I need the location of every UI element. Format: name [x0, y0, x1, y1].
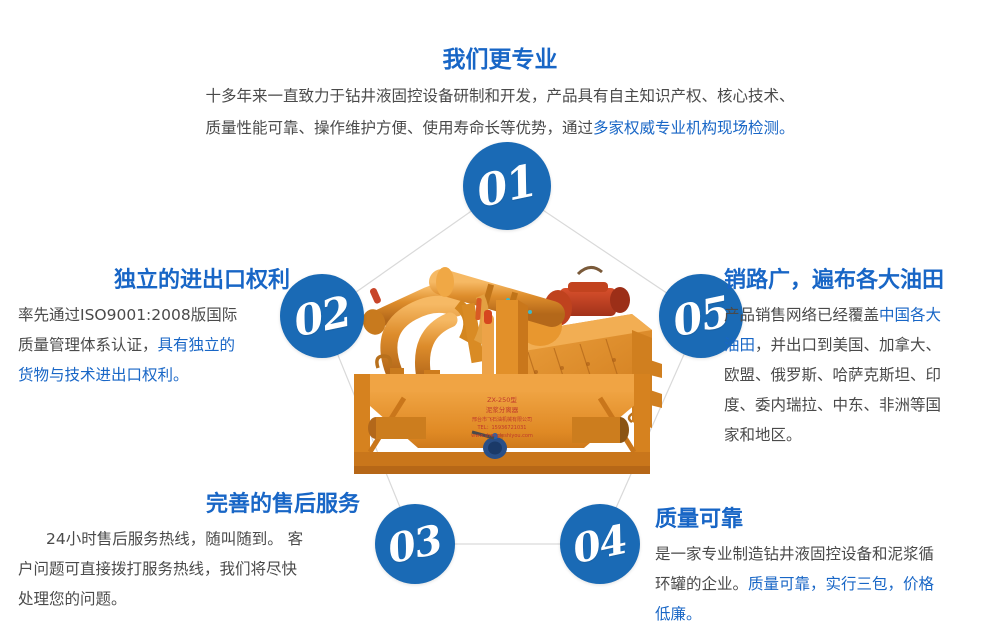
feature-02-line-2: 质量管理体系认证，具有独立的	[18, 330, 290, 360]
badge-02[interactable]: 02	[280, 274, 364, 358]
feature-02-line-1: 率先通过ISO9001:2008版国际	[18, 300, 290, 330]
badge-03[interactable]: 03	[375, 504, 455, 584]
badge-03-label: 03	[384, 515, 446, 572]
feature-05-line-3: 欧盟、俄罗斯、哈萨克斯坦、印	[724, 360, 986, 390]
badge-01[interactable]: 01	[463, 142, 551, 230]
feature-04-line-2-highlight: 质量可靠，实行三包，价格	[748, 575, 934, 593]
feature-05-line-2: 油田，并出口到美国、加拿大、	[724, 330, 986, 360]
feature-01-line-2: 质量性能可靠、操作维护方便、使用寿命长等优势，通过多家权威专业机构现场检测。	[150, 112, 850, 144]
feature-02-line-2-highlight: 具有独立的	[158, 336, 236, 354]
feature-01-line-1: 十多年来一直致力于钻井液固控设备研制和开发，产品具有自主知识产权、核心技术、	[150, 80, 850, 112]
feature-05-title: 销路广，遍布各大油田	[724, 266, 986, 296]
badge-01-label: 01	[473, 155, 542, 217]
feature-01-line-2-highlight: 多家权威专业机构现场检测。	[593, 119, 795, 137]
feature-04-line-1: 是一家专业制造钻井液固控设备和泥浆循	[655, 539, 991, 569]
badge-04[interactable]: 04	[560, 504, 640, 584]
feature-block-02: 独立的进出口权利 率先通过ISO9001:2008版国际 质量管理体系认证，具有…	[18, 266, 290, 390]
feature-01-line-2-plain: 质量性能可靠、操作维护方便、使用寿命长等优势，通过	[205, 119, 593, 137]
feature-04-line-3: 低廉。	[655, 599, 991, 629]
feature-05-line-2-highlight: 油田	[724, 336, 755, 354]
product-photo: ZX-250型 泥浆分离器 邢台市飞石油机械有限公司 TEL：159367210…	[332, 252, 668, 484]
svg-text:泥浆分离器: 泥浆分离器	[486, 405, 519, 414]
feature-04-title: 质量可靠	[655, 505, 991, 535]
feature-02-line-3: 货物与技术进出口权利。	[18, 360, 290, 390]
feature-02-title: 独立的进出口权利	[18, 266, 290, 296]
feature-03-line-1: 24小时售后服务热线，随叫随到。 客	[18, 524, 360, 554]
feature-05-line-2-plain: ，并出口到美国、加拿大、	[755, 336, 941, 354]
svg-text:www.shengleshiyou.com: www.shengleshiyou.com	[471, 433, 533, 439]
feature-05-line-1-plain: 产品销售网络已经覆盖	[724, 306, 879, 324]
feature-block-03: 完善的售后服务 24小时售后服务热线，随叫随到。 客 户问题可直接拨打服务热线，…	[18, 490, 360, 614]
feature-04-line-2-plain: 环罐的企业。	[655, 575, 748, 593]
feature-02-line-2-plain: 质量管理体系认证，	[18, 336, 158, 354]
badge-04-label: 04	[569, 515, 631, 572]
feature-05-line-4: 度、委内瑞拉、中东、非洲等国	[724, 390, 986, 420]
feature-05-line-5: 家和地区。	[724, 420, 986, 450]
badge-02-label: 02	[289, 286, 354, 346]
feature-05-line-1-highlight: 中国各大	[879, 306, 941, 324]
feed-chute	[482, 300, 528, 384]
feature-03-title: 完善的售后服务	[18, 490, 360, 520]
feature-03-line-3: 处理您的问题。	[18, 584, 360, 614]
svg-text:ZX-250型: ZX-250型	[487, 395, 517, 404]
feature-05-line-1: 产品销售网络已经覆盖中国各大	[724, 300, 986, 330]
feature-04-line-2: 环罐的企业。质量可靠，实行三包，价格	[655, 569, 991, 599]
feature-block-01: 我们更专业 十多年来一直致力于钻井液固控设备研制和开发，产品具有自主知识产权、核…	[150, 44, 850, 144]
svg-text:邢台市飞石油机械有限公司: 邢台市飞石油机械有限公司	[472, 416, 532, 423]
infographic-canvas: ZX-250型 泥浆分离器 邢台市飞石油机械有限公司 TEL：159367210…	[0, 0, 1000, 642]
feature-01-title: 我们更专业	[150, 44, 850, 76]
feature-block-05: 销路广，遍布各大油田 产品销售网络已经覆盖中国各大 油田，并出口到美国、加拿大、…	[724, 266, 986, 450]
svg-text:TEL：15936721031: TEL：15936721031	[477, 425, 527, 431]
feature-block-04: 质量可靠 是一家专业制造钻井液固控设备和泥浆循 环罐的企业。质量可靠，实行三包，…	[655, 505, 991, 629]
feature-03-line-2: 户问题可直接拨打服务热线，我们将尽快	[18, 554, 360, 584]
